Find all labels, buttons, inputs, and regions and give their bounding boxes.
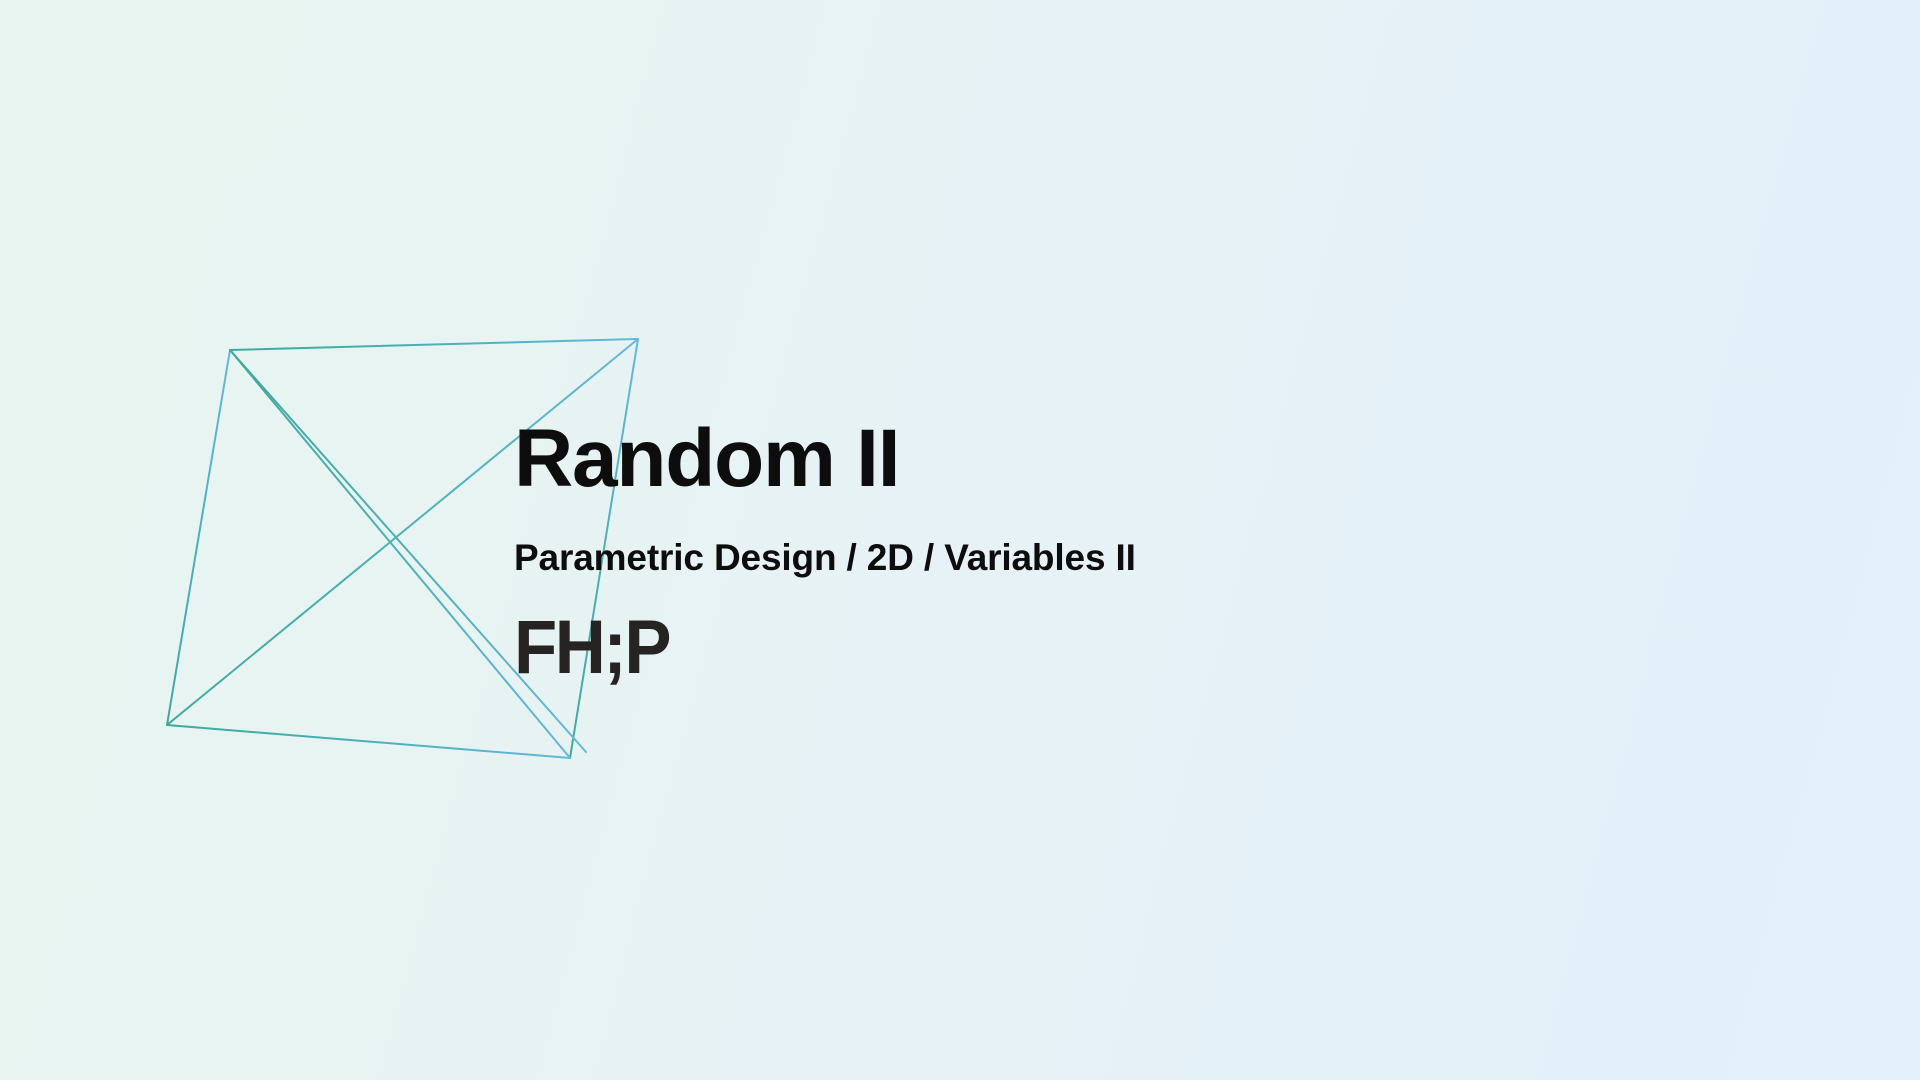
slide-subtitle: Parametric Design / 2D / Variables II xyxy=(514,500,1714,576)
slide-text-block: Random II Parametric Design / 2D / Varia… xyxy=(514,418,1714,686)
slide-canvas: Random II Parametric Design / 2D / Varia… xyxy=(0,0,1920,1080)
lineart-edge-bottom xyxy=(167,725,570,758)
fhp-logo: FH;P xyxy=(514,576,1630,686)
lineart-edge-top xyxy=(230,339,638,350)
lineart-edge-left xyxy=(167,350,230,725)
page-title: Random II xyxy=(514,418,1714,500)
